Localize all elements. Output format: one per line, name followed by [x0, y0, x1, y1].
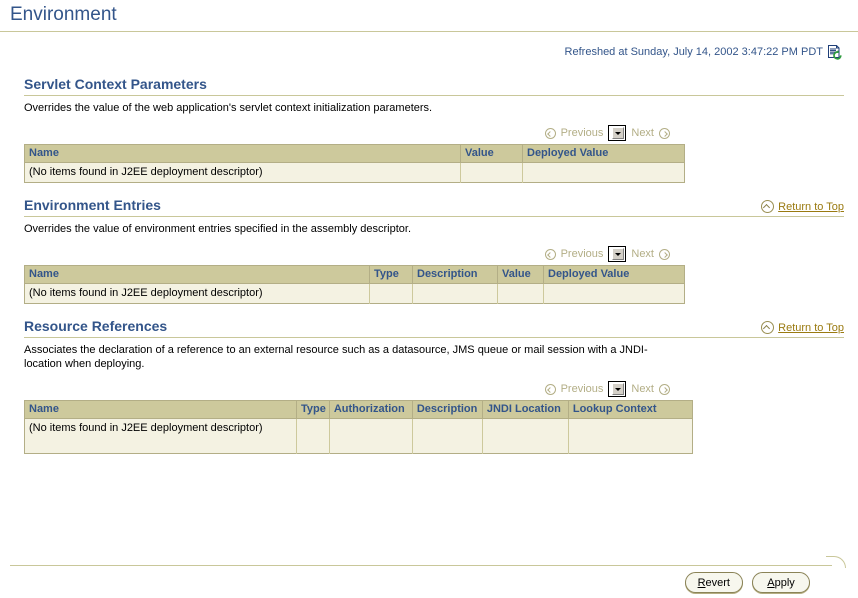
chevron-down-icon — [612, 127, 624, 139]
footer-divider — [10, 565, 832, 566]
revert-button[interactable]: Revert — [685, 572, 743, 593]
column-header: Type — [370, 266, 413, 284]
column-header: Type — [297, 401, 330, 419]
table-row: (No items found in J2EE deployment descr… — [25, 163, 685, 183]
table-header-row: NameTypeAuthorizationDescriptionJNDI Loc… — [25, 401, 693, 419]
empty-message-cell: (No items found in J2EE deployment descr… — [25, 419, 297, 454]
column-header: Name — [25, 401, 297, 419]
previous-circle-arrow-icon[interactable] — [545, 249, 556, 260]
column-header: Lookup Context — [568, 401, 692, 419]
page-select[interactable] — [608, 246, 626, 262]
section-title-servlet-context-parameters: Servlet Context Parameters — [24, 76, 207, 93]
empty-cell — [412, 419, 482, 454]
empty-cell — [568, 419, 692, 454]
section-environment-entries: Environment EntriesReturn to TopOverride… — [24, 197, 844, 304]
return-to-top-link-environment-entries[interactable]: Return to Top — [761, 200, 844, 214]
column-header: Value — [498, 266, 544, 284]
next-circle-arrow-icon[interactable] — [659, 128, 670, 139]
chevron-down-icon — [612, 383, 624, 395]
table-servlet-context-parameters: NameValueDeployed Value(No items found i… — [24, 144, 685, 183]
section-description-resource-references: Associates the declaration of a referenc… — [24, 343, 664, 371]
section-title-environment-entries: Environment Entries — [24, 197, 161, 214]
page-select[interactable] — [608, 381, 626, 397]
table-environment-entries: NameTypeDescriptionValueDeployed Value(N… — [24, 265, 685, 304]
empty-cell — [482, 419, 568, 454]
chevron-down-icon — [612, 248, 624, 260]
footer-bar: Revert Apply — [0, 556, 858, 598]
refreshed-timestamp: Refreshed at Sunday, July 14, 2002 3:47:… — [565, 46, 823, 58]
table-row: (No items found in J2EE deployment descr… — [25, 419, 693, 454]
empty-cell — [523, 163, 685, 183]
revert-accesskey: R — [698, 577, 706, 589]
empty-cell — [413, 284, 498, 304]
return-to-top-label: Return to Top — [778, 322, 844, 334]
previous-label[interactable]: Previous — [561, 383, 604, 395]
return-to-top-link-resource-references[interactable]: Return to Top — [761, 321, 844, 335]
next-circle-arrow-icon[interactable] — [659, 384, 670, 395]
previous-circle-arrow-icon[interactable] — [545, 384, 556, 395]
previous-label[interactable]: Previous — [561, 248, 604, 260]
column-header: Deployed Value — [523, 145, 685, 163]
next-label[interactable]: Next — [631, 248, 654, 260]
page-title: Environment — [10, 4, 858, 26]
footer-button-group: Revert Apply — [685, 572, 810, 593]
previous-circle-arrow-icon[interactable] — [545, 128, 556, 139]
revert-label-rest: evert — [706, 577, 730, 589]
apply-label-rest: pply — [775, 577, 795, 589]
pager-resource-references: PreviousNext — [24, 379, 844, 399]
section-servlet-context-parameters: Servlet Context ParametersOverrides the … — [24, 76, 844, 183]
pager-environment-entries: PreviousNext — [24, 244, 844, 264]
empty-cell — [498, 284, 544, 304]
refresh-row: Refreshed at Sunday, July 14, 2002 3:47:… — [0, 32, 858, 62]
section-header-resource-references: Resource ReferencesReturn to Top — [24, 318, 844, 338]
empty-cell — [544, 284, 685, 304]
return-to-top-icon — [761, 321, 774, 334]
empty-cell — [370, 284, 413, 304]
table-header-row: NameValueDeployed Value — [25, 145, 685, 163]
section-description-environment-entries: Overrides the value of environment entri… — [24, 222, 664, 236]
column-header: JNDI Location — [482, 401, 568, 419]
page-select[interactable] — [608, 125, 626, 141]
empty-cell — [461, 163, 523, 183]
table-resource-references: NameTypeAuthorizationDescriptionJNDI Loc… — [24, 400, 693, 454]
column-header: Name — [25, 266, 370, 284]
apply-button[interactable]: Apply — [752, 572, 810, 593]
next-circle-arrow-icon[interactable] — [659, 249, 670, 260]
content-area: Servlet Context ParametersOverrides the … — [0, 76, 858, 454]
empty-cell — [329, 419, 412, 454]
refresh-page-icon[interactable] — [827, 44, 844, 61]
revert-button-label: Revert — [698, 577, 730, 589]
return-to-top-label: Return to Top — [778, 201, 844, 213]
column-header: Description — [412, 401, 482, 419]
section-header-servlet-context-parameters: Servlet Context Parameters — [24, 76, 844, 96]
column-header: Name — [25, 145, 461, 163]
table-row: (No items found in J2EE deployment descr… — [25, 284, 685, 304]
return-to-top-icon — [761, 200, 774, 213]
pager-servlet-context-parameters: PreviousNext — [24, 123, 844, 143]
empty-message-cell: (No items found in J2EE deployment descr… — [25, 163, 461, 183]
empty-message-cell: (No items found in J2EE deployment descr… — [25, 284, 370, 304]
apply-button-label: Apply — [767, 577, 795, 589]
column-header: Description — [413, 266, 498, 284]
column-header: Value — [461, 145, 523, 163]
footer-corner-curve — [826, 556, 846, 568]
column-header: Deployed Value — [544, 266, 685, 284]
column-header: Authorization — [329, 401, 412, 419]
previous-label[interactable]: Previous — [561, 127, 604, 139]
section-description-servlet-context-parameters: Overrides the value of the web applicati… — [24, 101, 664, 115]
table-header-row: NameTypeDescriptionValueDeployed Value — [25, 266, 685, 284]
section-title-resource-references: Resource References — [24, 318, 167, 335]
next-label[interactable]: Next — [631, 127, 654, 139]
next-label[interactable]: Next — [631, 383, 654, 395]
section-resource-references: Resource ReferencesReturn to TopAssociat… — [24, 318, 844, 454]
empty-cell — [297, 419, 330, 454]
apply-accesskey: A — [767, 577, 774, 589]
section-header-environment-entries: Environment EntriesReturn to Top — [24, 197, 844, 217]
page-title-bar: Environment — [0, 0, 858, 32]
